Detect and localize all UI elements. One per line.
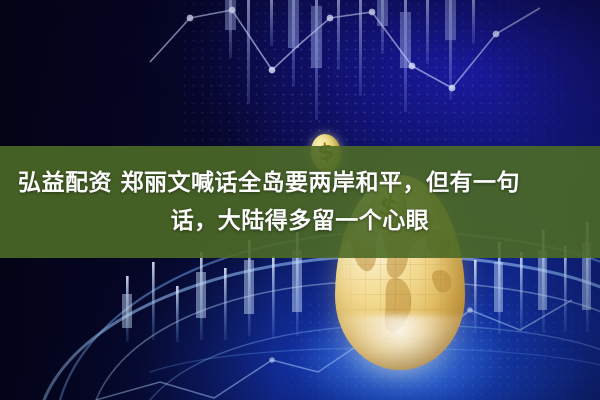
banner-image: $ $ 弘益配资 郑丽文喊话全岛要两岸和平，但有一句 话，大陆得多留一个心眼 <box>0 0 600 400</box>
headline-band: 弘益配资 郑丽文喊话全岛要两岸和平，但有一句 话，大陆得多留一个心眼 <box>0 146 600 258</box>
headline-line-2: 话，大陆得多留一个心眼 <box>171 202 430 240</box>
headline-line-1: 弘益配资 郑丽文喊话全岛要两岸和平，但有一句 <box>8 164 520 202</box>
